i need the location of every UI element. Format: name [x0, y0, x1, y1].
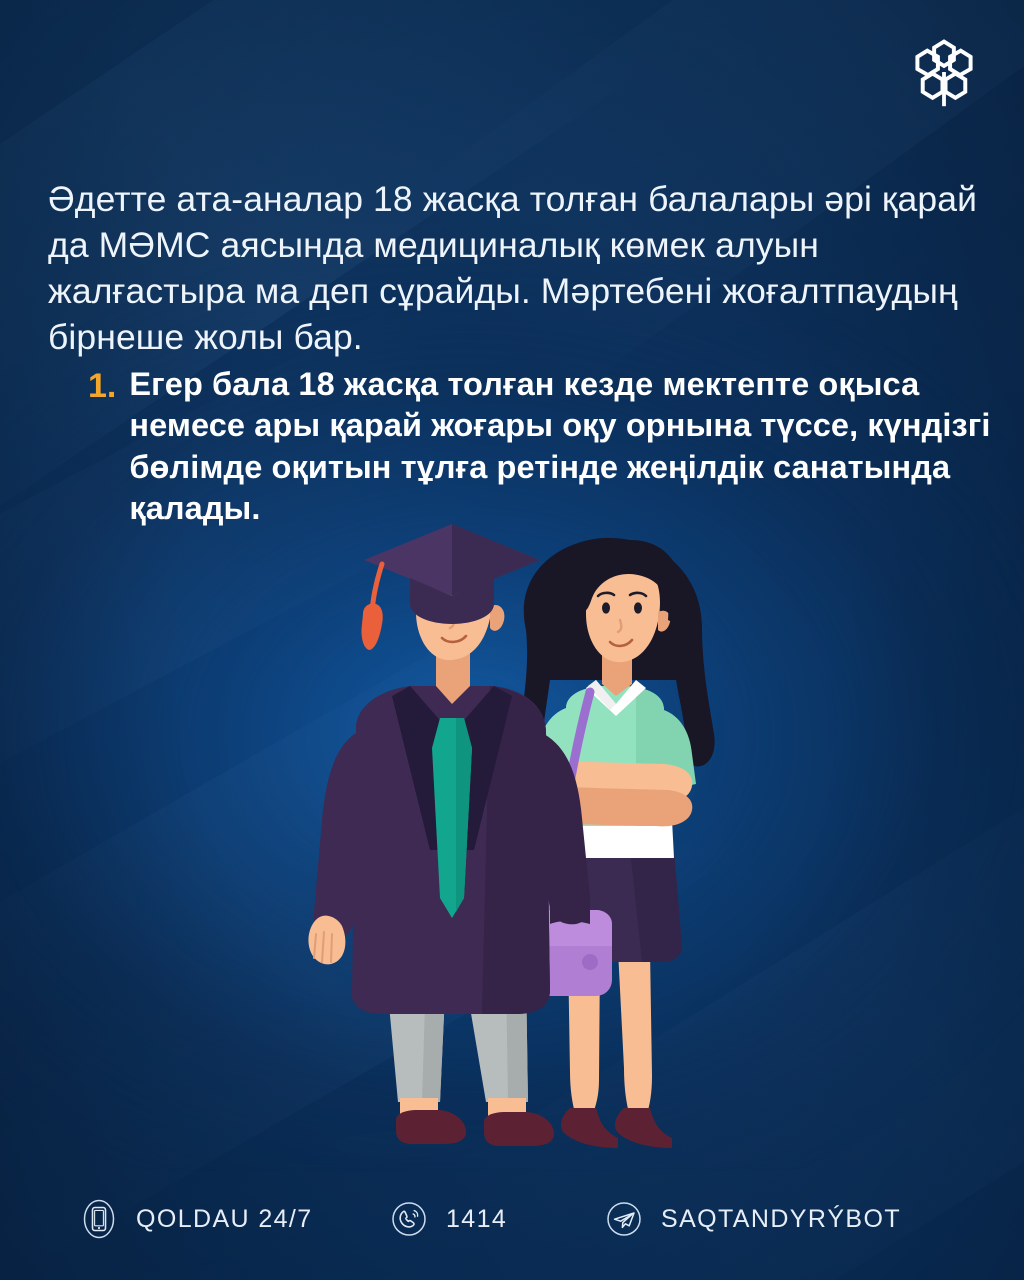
footer-item-telegram[interactable]: SAQTANDYRÝBOT	[603, 1198, 901, 1240]
intro-paragraph: Әдетте ата-аналар 18 жасқа толған балала…	[48, 176, 992, 361]
poster-canvas: Әдетте ата-аналар 18 жасқа толған балала…	[0, 0, 1024, 1280]
footer-item-qoldau[interactable]: QOLDAU 24/7	[78, 1198, 388, 1240]
footer-contact-bar: QOLDAU 24/7 1414 SAQTANDYRÝBOT	[0, 1198, 1024, 1240]
telegram-plane-icon	[603, 1198, 645, 1240]
list-item-text: Егер бала 18 жасқа толған кезде мектепте…	[129, 364, 998, 529]
list-number: 1.	[88, 364, 116, 408]
mobile-phone-icon	[78, 1198, 120, 1240]
footer-label-telegram: SAQTANDYRÝBOT	[661, 1205, 901, 1234]
hexagonal-snowflake-logo	[906, 34, 982, 110]
phone-call-icon	[388, 1198, 430, 1240]
graduate-and-student-illustration	[250, 520, 780, 1180]
footer-item-hotline[interactable]: 1414	[388, 1198, 603, 1240]
footer-label-hotline: 1414	[446, 1205, 507, 1234]
numbered-list-item: 1. Егер бала 18 жасқа толған кезде мекте…	[88, 364, 998, 529]
footer-label-qoldau: QOLDAU 24/7	[136, 1205, 313, 1234]
